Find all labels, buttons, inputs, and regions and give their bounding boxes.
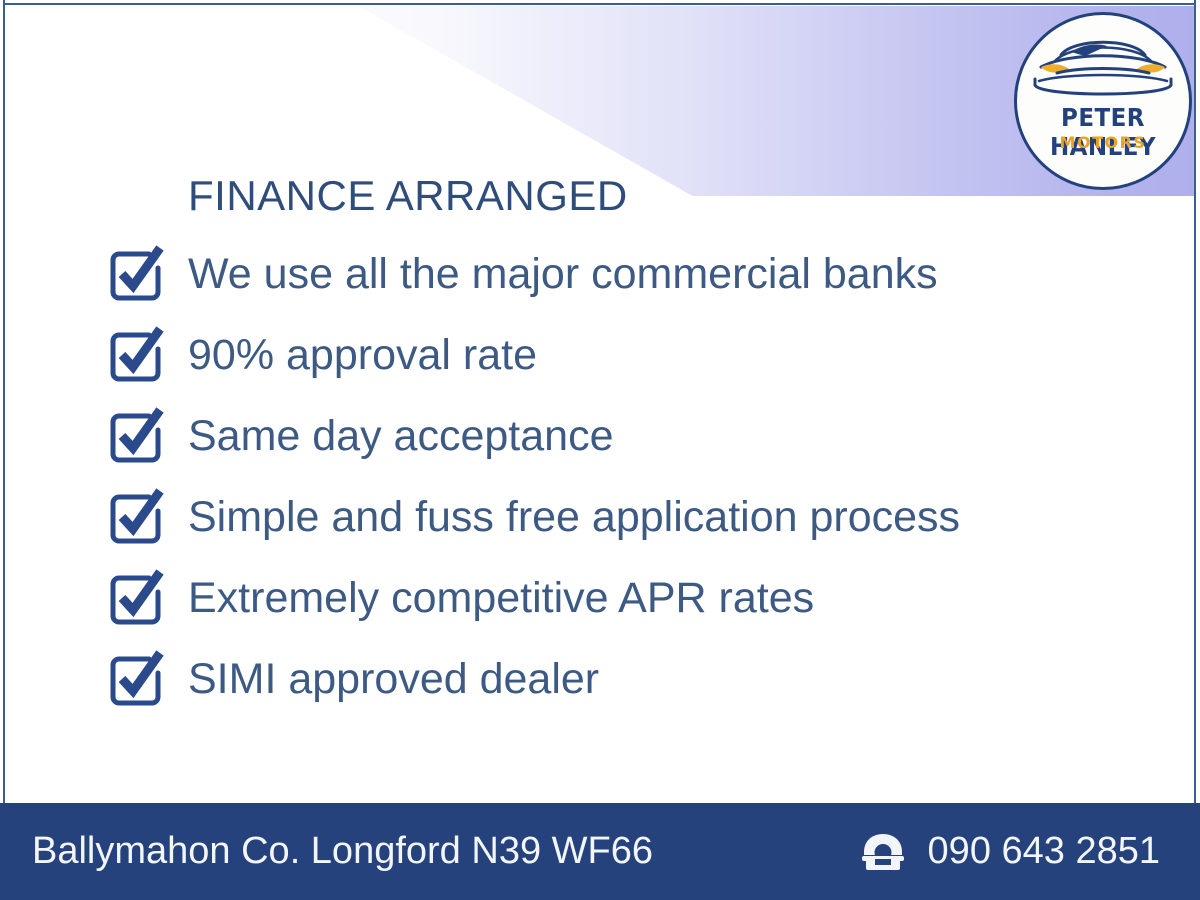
contact-footer-bar: Ballymahon Co. Longford N39 WF66 090 643…: [0, 803, 1200, 900]
list-item: Extremely competitive APR rates: [106, 567, 1106, 648]
frame-border-left: [3, 0, 5, 806]
frame-border-right: [1194, 0, 1196, 806]
list-item-label: We use all the major commercial banks: [188, 243, 938, 305]
checkbox-checked-icon: [106, 245, 168, 307]
telephone-icon: [860, 832, 906, 872]
list-item: Simple and fuss free application process: [106, 486, 1106, 567]
checkbox-checked-icon: [106, 569, 168, 631]
car-front-icon: [1027, 29, 1179, 101]
list-item: We use all the major commercial banks: [106, 243, 1106, 324]
logo-brand-name: PETER HANLEY: [1024, 103, 1182, 161]
list-item: 90% approval rate: [106, 324, 1106, 405]
list-item: SIMI approved dealer: [106, 648, 1106, 729]
list-item-label: 90% approval rate: [188, 324, 537, 386]
dealer-address: Ballymahon Co. Longford N39 WF66: [32, 830, 653, 873]
page-title: FINANCE ARRANGED: [188, 172, 628, 220]
list-item-label: Same day acceptance: [188, 405, 614, 467]
list-item-label: Extremely competitive APR rates: [188, 567, 814, 629]
checkbox-checked-icon: [106, 326, 168, 388]
logo-brand-sub: MOTORS: [1017, 133, 1189, 152]
dealer-logo: PETER HANLEY MOTORS: [1014, 12, 1192, 190]
finance-benefits-list: We use all the major commercial banks 90…: [106, 243, 1106, 729]
list-item-label: SIMI approved dealer: [188, 648, 599, 710]
checkbox-checked-icon: [106, 407, 168, 469]
list-item: Same day acceptance: [106, 405, 1106, 486]
list-item-label: Simple and fuss free application process: [188, 486, 960, 548]
frame-border-top: [3, 3, 1196, 5]
dealer-phone[interactable]: 090 643 2851: [860, 830, 1160, 873]
phone-number-text: 090 643 2851: [928, 830, 1160, 873]
checkbox-checked-icon: [106, 488, 168, 550]
advert-canvas: PETER HANLEY MOTORS FINANCE ARRANGED We …: [0, 0, 1200, 900]
checkbox-checked-icon: [106, 650, 168, 712]
